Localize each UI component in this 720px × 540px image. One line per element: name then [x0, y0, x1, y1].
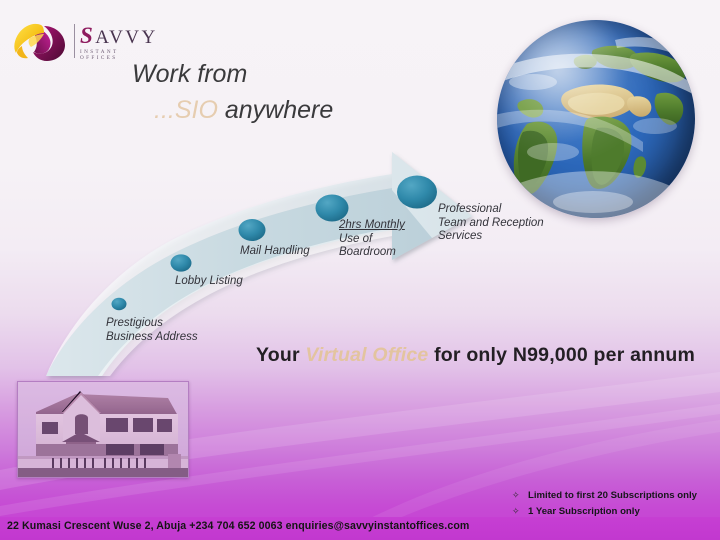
milestone-label-line: Prestigious [106, 317, 198, 331]
growth-arrow-diagram: Prestigious Business Address Lobby Listi… [40, 130, 490, 380]
milestone-dot-3 [239, 219, 266, 241]
milestone-label-boardroom: 2hrs Monthly Use of Boardroom [339, 219, 405, 260]
milestone-dot-5 [397, 176, 437, 209]
milestone-label-line: Team and Reception [438, 217, 544, 231]
milestone-label-lobby-listing: Lobby Listing [175, 275, 243, 289]
headline-anywhere: anywhere [218, 96, 333, 124]
logo-brand-name: SAVVY [80, 26, 158, 48]
earth-globe-icon [497, 20, 695, 218]
price-product-name: Virtual Office [305, 344, 428, 366]
milestone-label-line: Lobby Listing [175, 275, 243, 289]
list-item: ✧ Limited to first 20 Subscriptions only [512, 489, 720, 502]
logo-divider [74, 24, 75, 58]
savvy-swirl-logo-icon [10, 20, 72, 64]
price-prefix: Your [256, 344, 305, 366]
diamond-bullet-icon: ✧ [512, 489, 528, 502]
slide-canvas: SAVVY INSTANT OFFICES Work from ...SIO a… [0, 0, 720, 540]
milestone-dot-1 [112, 298, 127, 310]
office-building-photo [17, 381, 189, 478]
page-title: Work from ...SIO anywhere [132, 56, 472, 128]
milestone-label-line: 2hrs Monthly [339, 219, 405, 233]
logo-name-rest: AVVY [95, 27, 157, 48]
milestone-dot-4 [316, 195, 349, 222]
headline-sio-accent: ...SIO [154, 96, 218, 124]
price-suffix: for only N99,000 per annum [428, 344, 695, 366]
milestone-label-prestigious-business-address: Prestigious Business Address [106, 317, 198, 344]
milestone-label-line: Business Address [106, 331, 198, 345]
globe-highlight [497, 20, 695, 218]
logo-initial: S [80, 23, 95, 48]
office-building-photo-art [18, 382, 188, 477]
milestone-label-line: Professional [438, 203, 544, 217]
milestone-label-mail-handling: Mail Handling [240, 245, 310, 259]
milestone-label-line: Mail Handling [240, 245, 310, 259]
headline-line-2: ...SIO anywhere [132, 92, 472, 128]
milestone-dot-2 [171, 254, 192, 271]
brand-logo[interactable]: SAVVY INSTANT OFFICES [8, 18, 148, 66]
milestone-label-professional-team: Professional Team and Reception Services [438, 203, 544, 244]
milestone-label-line: Use of [339, 233, 405, 247]
price-headline: Your Virtual Office for only N99,000 per… [256, 344, 695, 367]
milestone-label-line: Boardroom [339, 246, 405, 260]
footer-contact-info: 22 Kumasi Crescent Wuse 2, Abuja +234 70… [7, 520, 469, 532]
milestone-label-underlined: 2hrs Monthly [339, 219, 405, 231]
headline-line-1: Work from [132, 56, 472, 92]
offer-condition-text: Limited to first 20 Subscriptions only [528, 489, 697, 502]
milestone-label-line: Services [438, 230, 544, 244]
